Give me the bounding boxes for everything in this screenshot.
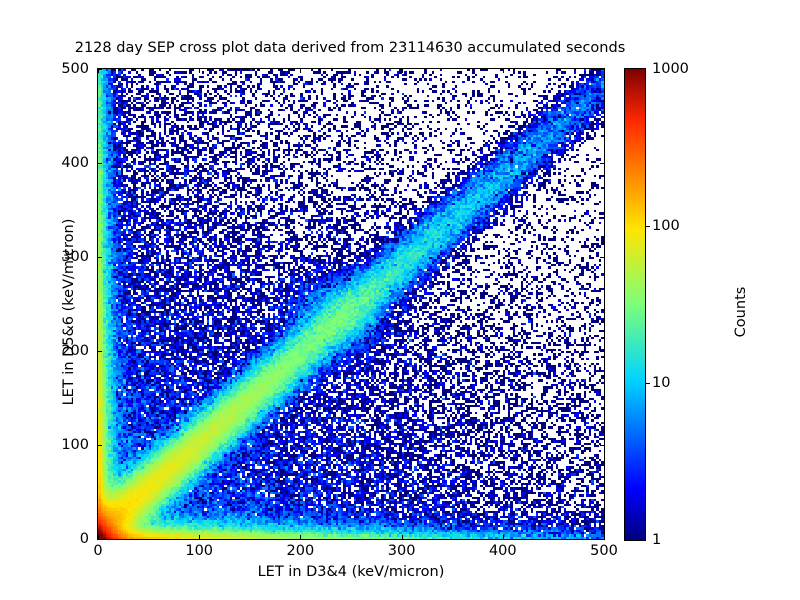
y-tick-500 (98, 69, 102, 70)
density-heatmap (98, 69, 604, 539)
x-tick-400 (503, 535, 504, 539)
x-tick-top-400 (503, 69, 504, 73)
y-tick-right-200 (600, 351, 604, 352)
x-axis-label: LET in D3&4 (keV/micron) (97, 564, 605, 580)
y-ticklabel-0: 0 (31, 531, 89, 547)
colorbar-gradient (625, 69, 645, 540)
y-tick-right-100 (600, 445, 604, 446)
x-tick-top-100 (199, 69, 200, 73)
x-tick-top-300 (402, 69, 403, 73)
colorbar-tick-100 (646, 226, 650, 227)
y-ticklabel-300: 300 (31, 249, 89, 265)
colorbar-ticklabel-1: 1 (652, 532, 661, 548)
x-tick-300 (402, 535, 403, 539)
colorbar-ticklabel-1000: 1000 (652, 61, 689, 77)
y-tick-300 (98, 257, 102, 258)
figure-canvas: 2128 day SEP cross plot data derived fro… (0, 0, 800, 600)
x-ticklabel-0: 0 (93, 543, 102, 559)
plot-axes (97, 68, 605, 540)
y-tick-right-400 (600, 163, 604, 164)
y-tick-100 (98, 445, 102, 446)
x-tick-top-500 (604, 69, 605, 73)
x-ticklabel-500: 500 (590, 543, 618, 559)
colorbar-label: Counts (733, 202, 749, 422)
x-tick-100 (199, 535, 200, 539)
y-ticklabel-400: 400 (31, 155, 89, 171)
y-ticklabel-200: 200 (31, 343, 89, 359)
y-tick-right-0 (600, 539, 604, 540)
x-ticklabel-300: 300 (388, 543, 416, 559)
y-tick-200 (98, 351, 102, 352)
y-ticklabel-100: 100 (31, 437, 89, 453)
x-ticklabel-400: 400 (489, 543, 517, 559)
y-tick-400 (98, 163, 102, 164)
colorbar (624, 68, 646, 541)
x-ticklabel-200: 200 (287, 543, 315, 559)
x-tick-200 (300, 535, 301, 539)
y-tick-right-500 (600, 69, 604, 70)
x-tick-top-200 (300, 69, 301, 73)
colorbar-ticklabel-100: 100 (652, 218, 680, 234)
y-tick-right-300 (600, 257, 604, 258)
y-axis-label: LET in D5&6 (keV/micron) (61, 182, 77, 442)
plot-title-line-1: 2128 day SEP cross plot data derived fro… (0, 40, 700, 57)
colorbar-ticklabel-10: 10 (652, 375, 670, 391)
x-tick-500 (604, 535, 605, 539)
y-ticklabel-500: 500 (31, 61, 89, 77)
y-tick-0 (98, 539, 102, 540)
x-ticklabel-100: 100 (185, 543, 213, 559)
colorbar-tick-10 (646, 383, 650, 384)
